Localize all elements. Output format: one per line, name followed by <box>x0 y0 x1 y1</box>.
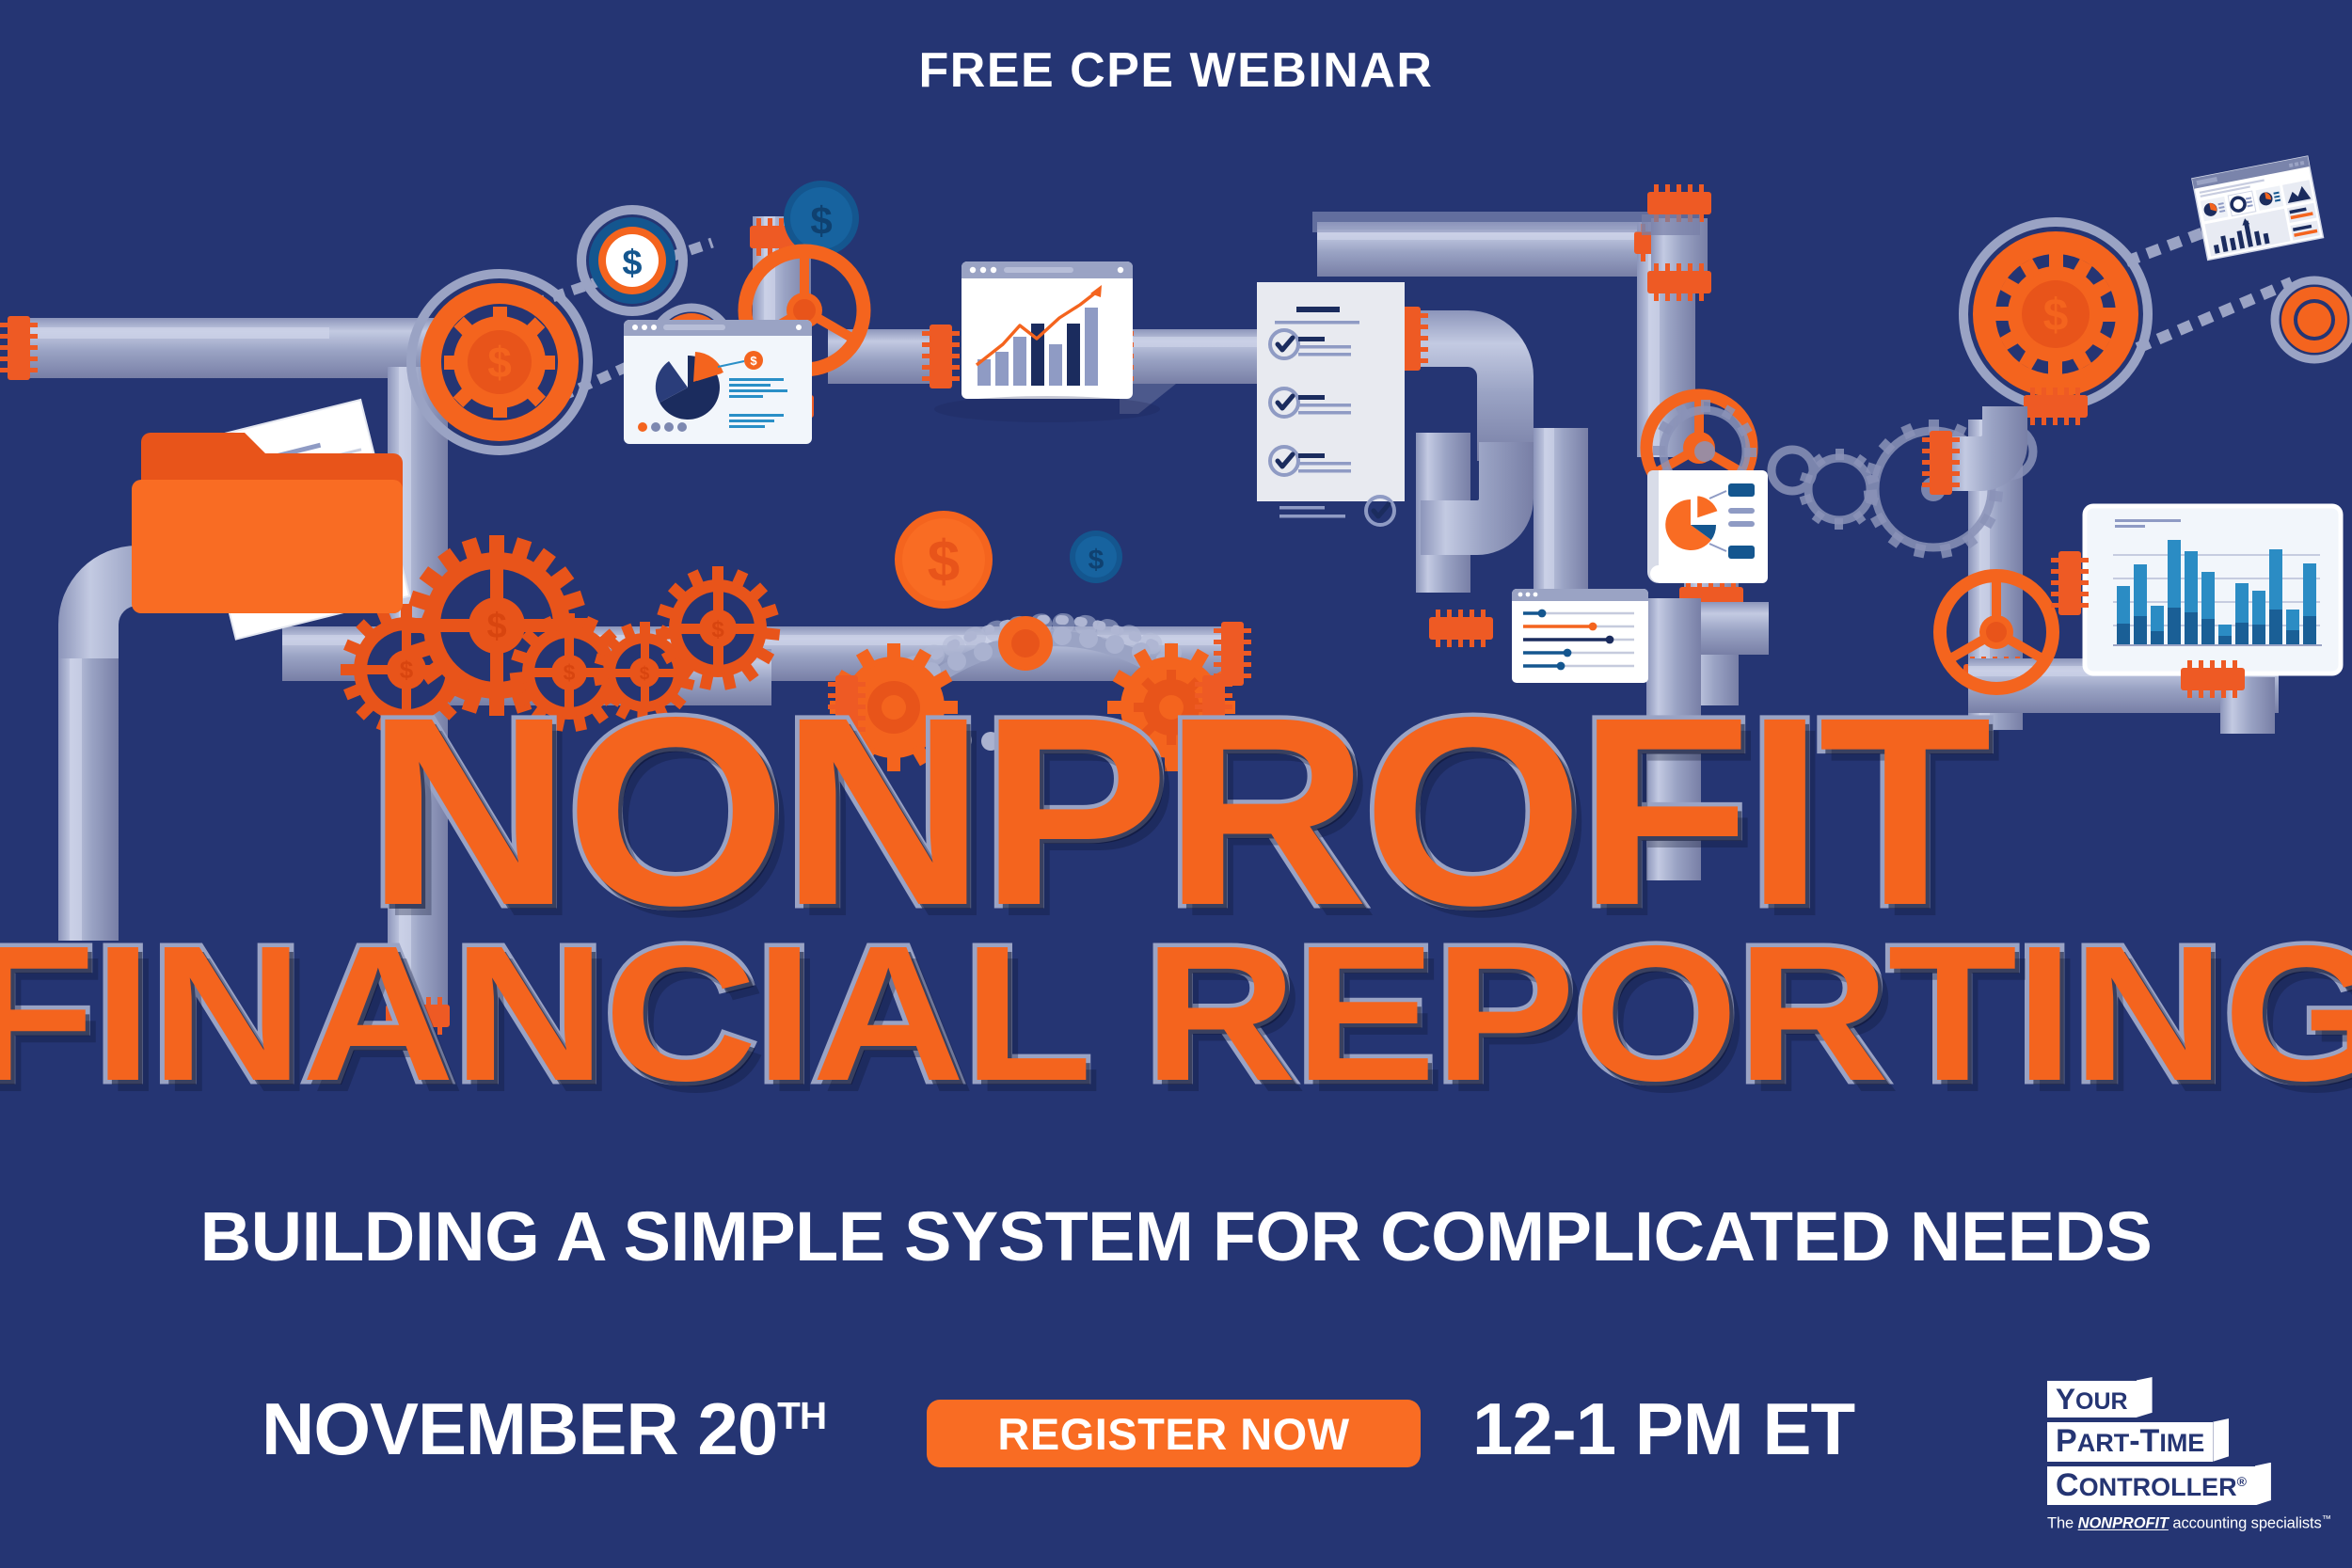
svg-text:$: $ <box>750 354 757 368</box>
svg-text:$: $ <box>711 617 724 642</box>
svg-text:$: $ <box>640 664 650 684</box>
date-main: NOVEMBER 20 <box>262 1387 777 1470</box>
kicker-text: FREE CPE WEBINAR <box>0 42 2352 99</box>
webinar-poster: $ $ $ $ <box>0 0 2352 1568</box>
tagline-post: accounting specialists <box>2169 1515 2322 1532</box>
svg-text:$: $ <box>622 244 642 283</box>
machinery-illustration: $ $ $ $ <box>0 0 2352 1568</box>
logo-rest-ime: IME <box>2159 1429 2204 1457</box>
svg-text:$: $ <box>564 660 576 685</box>
logo-line-controller: CONTROLLER® <box>2047 1466 2255 1506</box>
svg-text:$: $ <box>810 198 832 243</box>
logo-line-parttime: PART-TIME <box>2047 1422 2213 1462</box>
svg-text:$: $ <box>2043 291 2069 341</box>
tagline-pre: The <box>2047 1515 2078 1532</box>
logo-rest-our: OUR <box>2075 1388 2128 1415</box>
logo-cap-p: P <box>2056 1423 2077 1459</box>
webinar-date: NOVEMBER 20TH <box>262 1386 826 1472</box>
trademark-icon: ™ <box>2322 1514 2331 1525</box>
logo-line-your: YOUR <box>2047 1381 2137 1418</box>
logo-rest-art: ART <box>2077 1429 2130 1457</box>
svg-text:$: $ <box>486 607 506 646</box>
svg-text:$: $ <box>928 530 960 594</box>
company-logo[interactable]: YOUR PART-TIME CONTROLLER® The NONPROFIT… <box>2047 1381 2329 1533</box>
logo-tagline: The NONPROFIT accounting specialists™ <box>2047 1514 2329 1533</box>
webinar-time: 12-1 PM ET <box>1472 1386 1854 1472</box>
subtitle-text: BUILDING A SIMPLE SYSTEM FOR COMPLICATED… <box>0 1196 2352 1276</box>
svg-text:$: $ <box>1089 545 1104 576</box>
cta-bar: NOVEMBER 20TH REGISTER NOW 12-1 PM ET <box>0 1383 2352 1486</box>
logo-cap-c: C <box>2056 1467 2079 1503</box>
logo-cap-t: -T <box>2129 1423 2159 1459</box>
register-now-button[interactable]: REGISTER NOW <box>927 1400 1421 1467</box>
logo-cap-y: Y <box>2056 1382 2075 1416</box>
date-ordinal: TH <box>777 1394 826 1437</box>
registered-trademark-icon: ® <box>2237 1474 2247 1489</box>
svg-text:$: $ <box>487 338 512 387</box>
svg-text:$: $ <box>400 656 414 684</box>
logo-rest-ontroller: ONTROLLER <box>2079 1473 2237 1501</box>
tagline-nonprofit: NONPROFIT <box>2078 1515 2169 1532</box>
